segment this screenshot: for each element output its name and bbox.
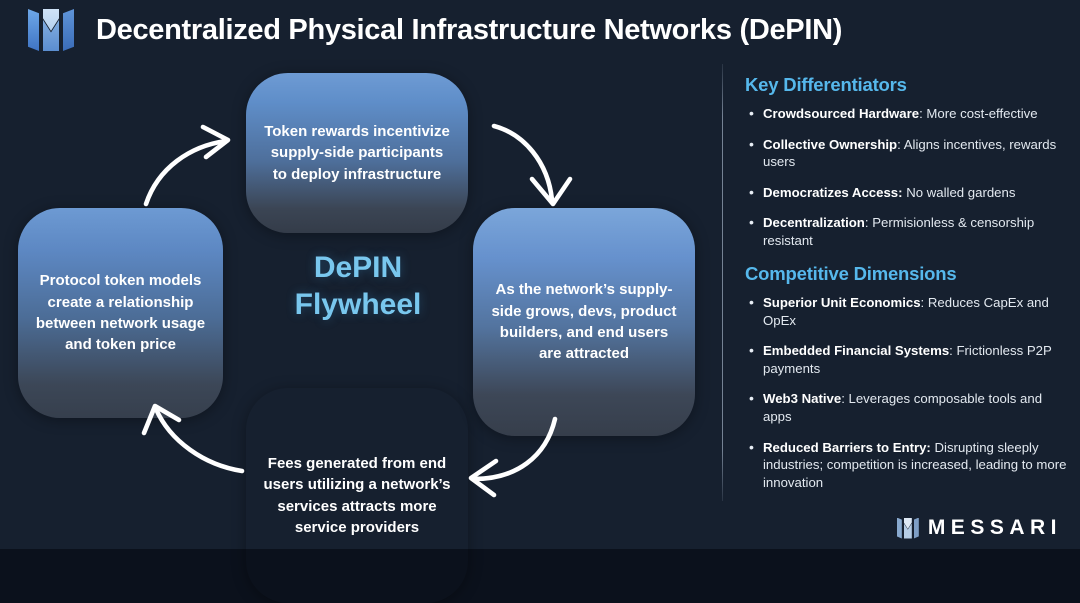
messari-logo-icon (28, 9, 74, 51)
flywheel-node-bottom-text: Fees generated from end users utilizing … (262, 453, 452, 538)
list-item: Embedded Financial Systems: Frictionless… (745, 342, 1067, 377)
bullet-term: Superior Unit Economics (763, 295, 921, 310)
arrow-left-to-top-icon (140, 120, 250, 210)
list-item: Reduced Barriers to Entry: Disrupting sl… (745, 439, 1067, 492)
arrow-right-to-bottom-icon (450, 413, 565, 498)
footer-branding: MESSARI (897, 516, 1062, 540)
messari-logo-icon (897, 518, 919, 539)
flywheel-node-left: Protocol token models create a relations… (18, 208, 223, 418)
footer-wordmark: MESSARI (928, 516, 1062, 540)
flywheel-node-top-text: Token rewards incentivize supply-side pa… (262, 121, 452, 185)
vertical-divider (722, 64, 723, 501)
bullet-term: Democratizes Access: (763, 185, 903, 200)
flywheel-node-top: Token rewards incentivize supply-side pa… (246, 73, 468, 233)
bullet-term: Reduced Barriers to Entry: (763, 440, 931, 455)
bullet-sep: : (841, 391, 848, 406)
list-item: Decentralization: Permisionless & censor… (745, 214, 1067, 249)
infographic-root: Decentralized Physical Infrastructure Ne… (0, 0, 1080, 549)
section-heading-competitive-dimensions: Competitive Dimensions (745, 263, 1067, 285)
list-item: Crowdsourced Hardware: More cost-effecti… (745, 105, 1067, 123)
list-item: Democratizes Access: No walled gardens (745, 184, 1067, 202)
bullet-term: Collective Ownership (763, 137, 897, 152)
side-panel: Key Differentiators Crowdsourced Hardwar… (745, 74, 1067, 504)
flywheel-center-line2: Flywheel (248, 287, 468, 324)
bullet-term: Decentralization (763, 215, 865, 230)
bullet-sep: : (921, 295, 928, 310)
list-item: Web3 Native: Leverages composable tools … (745, 390, 1067, 425)
section-heading-key-differentiators: Key Differentiators (745, 74, 1067, 96)
flywheel-node-bottom: Fees generated from end users utilizing … (246, 388, 468, 603)
flywheel-node-right: As the network’s supply-side grows, devs… (473, 208, 695, 436)
bullet-term: Crowdsourced Hardware (763, 106, 919, 121)
flywheel-node-left-text: Protocol token models create a relations… (34, 270, 207, 355)
bullet-sep: : (897, 137, 904, 152)
key-differentiators-list: Crowdsourced Hardware: More cost-effecti… (745, 105, 1067, 249)
list-item: Superior Unit Economics: Reduces CapEx a… (745, 294, 1067, 329)
flywheel-center-line1: DePIN (248, 250, 468, 287)
header: Decentralized Physical Infrastructure Ne… (0, 0, 1080, 60)
arrow-top-to-right-icon (490, 118, 585, 213)
arrow-bottom-to-left-icon (130, 393, 250, 483)
bullet-desc: More cost-effective (926, 106, 1037, 121)
depin-flywheel-diagram: Token rewards incentivize supply-side pa… (0, 58, 718, 549)
competitive-dimensions-list: Superior Unit Economics: Reduces CapEx a… (745, 294, 1067, 491)
bullet-term: Embedded Financial Systems (763, 343, 949, 358)
list-item: Collective Ownership: Aligns incentives,… (745, 136, 1067, 171)
bullet-desc: No walled gardens (906, 185, 1015, 200)
flywheel-center-label: DePIN Flywheel (248, 250, 468, 323)
flywheel-node-right-text: As the network’s supply-side grows, devs… (489, 279, 679, 364)
bullet-term: Web3 Native (763, 391, 841, 406)
page-title: Decentralized Physical Infrastructure Ne… (96, 14, 842, 47)
